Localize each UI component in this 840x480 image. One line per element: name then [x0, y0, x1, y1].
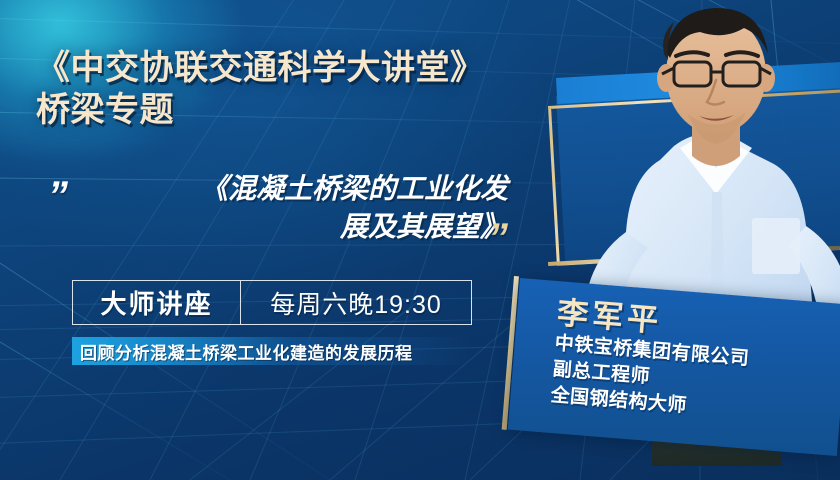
lecture-info-box: 大师讲座 每周六晚19:30: [72, 280, 472, 325]
lecture-summary-text: 回顾分析混凝土桥梁工业化建造的发展历程: [72, 339, 413, 364]
speaker-details: 李军平 中铁宝桥集团有限公司 副总工程师 全国钢结构大师: [508, 278, 840, 457]
quote-close-mark: ”: [488, 218, 505, 258]
lecture-subtitle: 《混凝土桥梁的工业化发 展及其展望》: [88, 170, 508, 246]
quote-block: ” 《混凝土桥梁的工业化发 展及其展望》 ”: [48, 170, 518, 270]
lecture-schedule: 每周六晚19:30: [241, 281, 471, 324]
lecture-type-label: 大师讲座: [73, 281, 241, 324]
lecture-summary-strip: 回顾分析混凝土桥梁工业化建造的发展历程: [72, 337, 472, 365]
quote-open-mark: ”: [48, 176, 65, 216]
page-title: 《中交协联交通科学大讲堂》 桥梁专题: [36, 47, 596, 131]
poster-canvas: 《中交协联交通科学大讲堂》 桥梁专题 ” 《混凝土桥梁的工业化发 展及其展望》 …: [0, 0, 840, 480]
